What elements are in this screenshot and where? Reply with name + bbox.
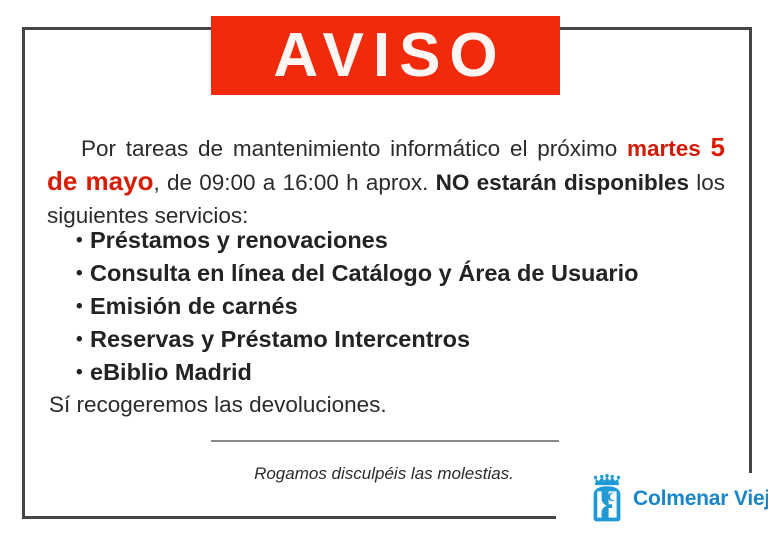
returns-notice-text: Sí recogeremos las devoluciones. (49, 390, 387, 420)
frame-border-bottom (22, 516, 556, 519)
list-item: eBiblio Madrid (76, 356, 638, 389)
unavailable-services-list: Préstamos y renovaciones Consulta en lín… (76, 224, 638, 389)
list-item: Préstamos y renovaciones (76, 224, 638, 257)
coat-of-arms-icon (588, 474, 626, 524)
intro-unavailable-emphasis: NO estarán disponibles (436, 170, 689, 195)
logo-wordmark: Colmenar Viejo (633, 487, 768, 511)
list-item: Emisión de carnés (76, 290, 638, 323)
aviso-banner: AVISO (211, 16, 560, 95)
footer-separator (211, 440, 559, 442)
banner-title: AVISO (264, 25, 506, 87)
intro-time-range: , de 09:00 a 16:00 h aprox. (153, 170, 435, 195)
list-item: Consulta en línea del Catálogo y Área de… (76, 257, 638, 290)
frame-border-right (749, 27, 752, 473)
intro-lead-text: Por tareas de mantenimiento informático … (81, 136, 627, 161)
colmenar-viejo-logo: Colmenar Viejo (588, 474, 768, 524)
intro-weekday: martes (627, 136, 711, 161)
list-item: Reservas y Préstamo Intercentros (76, 323, 638, 356)
frame-border-left (22, 27, 25, 519)
notice-intro-paragraph: Por tareas de mantenimiento informático … (47, 131, 725, 232)
notice-poster: AVISO Por tareas de mantenimiento inform… (0, 0, 768, 544)
